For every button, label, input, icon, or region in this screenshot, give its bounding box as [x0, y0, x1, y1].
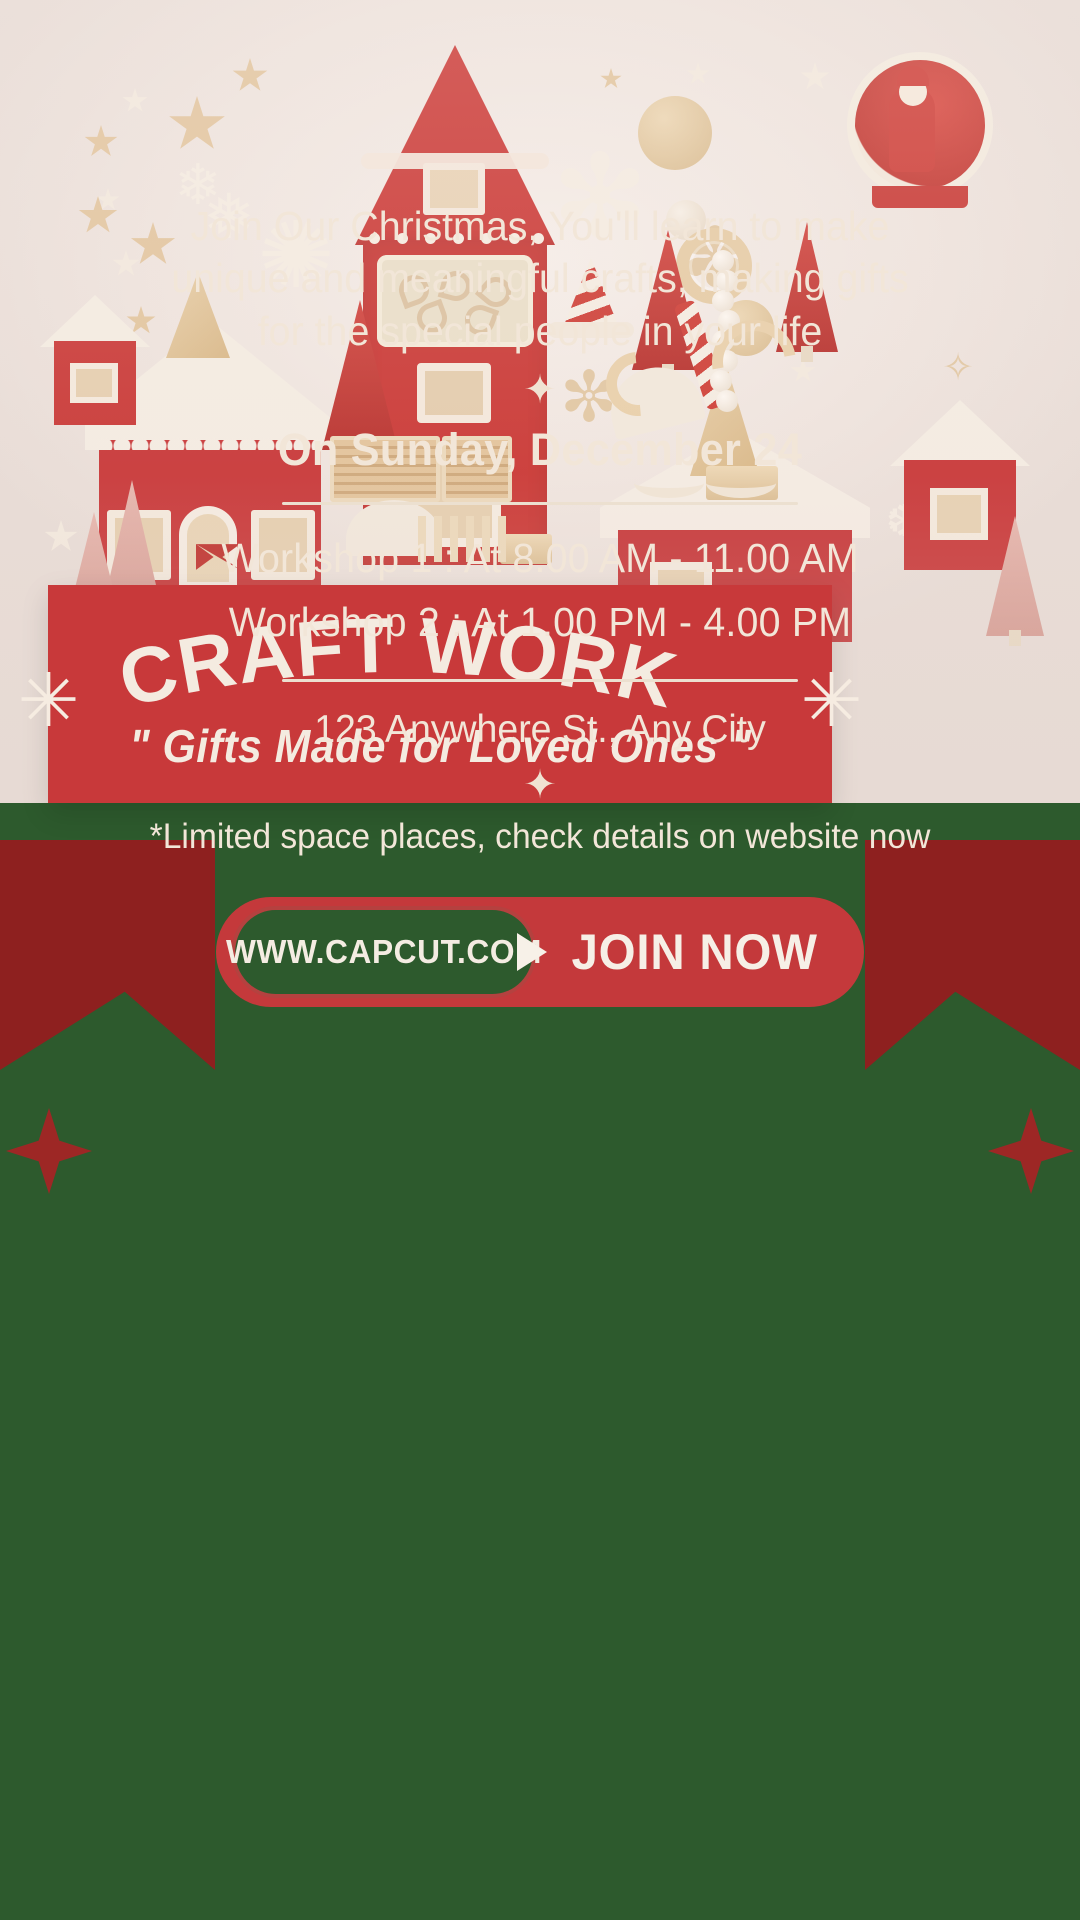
divider-rule-top [282, 502, 798, 505]
sparkle-divider-icon: ✦ [0, 765, 1080, 805]
intro-paragraph: Join Our Christmas, You'll learn to make… [22, 200, 1059, 357]
event-date: On Sunday, December 24 [22, 424, 1059, 476]
join-now-label: JOIN NOW [571, 923, 817, 981]
join-now-button[interactable]: WWW.CAPCUT.COM JOIN NOW [216, 897, 864, 1007]
availability-note: *Limited space places, check details on … [22, 817, 1059, 857]
website-url-chip[interactable]: WWW.CAPCUT.COM [231, 906, 536, 998]
event-venue: 123 Anywhere St., Any City [22, 708, 1059, 752]
session-row: Workshop 2 : At 1.00 PM - 4.00 PM [22, 591, 1059, 655]
join-now-label-group[interactable]: JOIN NOW [517, 897, 824, 1007]
session-list: Workshop 1 : At 8.00 AM - 11.00 AM Works… [0, 527, 1080, 654]
sparkle-divider-icon: ✦ [0, 370, 1080, 410]
play-triangle-icon [517, 933, 547, 971]
cta-container: WWW.CAPCUT.COM JOIN NOW [0, 897, 1080, 1007]
event-details: Join Our Christmas, You'll learn to make… [0, 200, 1080, 1007]
poster-root: ❄ ✺ ❅ ✻ ✽ ✼ ❋ ✦ ❆ ✧ [0, 0, 1080, 1920]
divider-rule-bottom [282, 679, 798, 682]
session-row: Workshop 1 : At 8.00 AM - 11.00 AM [22, 527, 1059, 591]
